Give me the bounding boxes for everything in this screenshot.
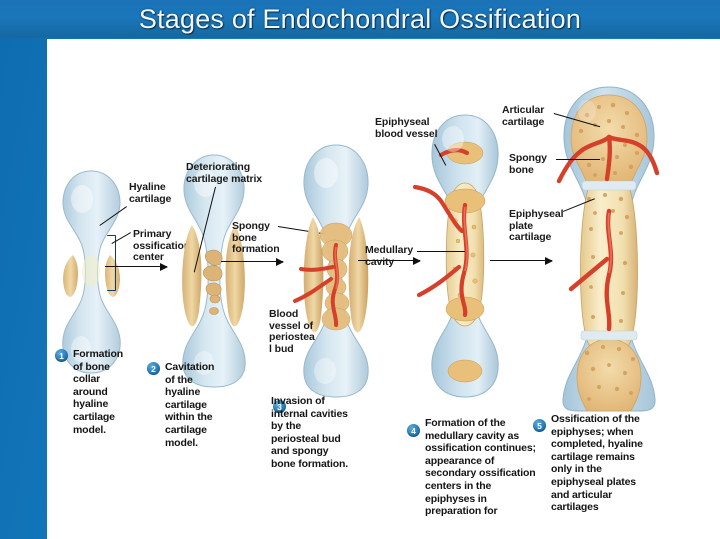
diagram-canvas: Hyaline cartilage Primary ossification c… [47, 39, 720, 539]
stage-1-bullet: 1 [55, 349, 68, 362]
label-spongy-bone-formation: Spongy bone formation [232, 221, 280, 256]
stage-2-caption: Cavitation of the hyaline cartilage with… [165, 361, 247, 449]
title-bar: Stages of Endochondral Ossification [0, 0, 720, 38]
label-blood-vessel-of-periosteal-bud: Blood vessel of periostea l bud [269, 309, 315, 355]
arrow-stage-1-to-2 [105, 266, 167, 267]
stage-5-bullet: 5 [533, 419, 546, 432]
stage-2-bullet: 2 [147, 362, 160, 375]
label-medullary-cavity: Medullary cavity [365, 245, 413, 268]
leader-medullary-cavity [417, 251, 465, 252]
stage-3-caption: Invasion of internal cavities by the per… [271, 395, 365, 471]
stage-5-figure [537, 81, 682, 411]
stage-5-caption: Ossification of the epiphyses; when comp… [551, 413, 663, 514]
leader-spongy-bone [556, 159, 600, 160]
stage-1-caption: Formation of bone collar around hyaline … [73, 348, 151, 436]
stage-4-bullet: 4 [407, 424, 420, 437]
label-epiphyseal-plate-cartilage: Epiphyseal plate cartilage [509, 209, 563, 244]
label-epiphyseal-blood-vessel: Epiphyseal blood vessel [375, 117, 437, 140]
arrow-stage-2-to-3 [221, 261, 283, 262]
label-deteriorating-cartilage-matrix: Deteriorating cartilage matrix [186, 162, 262, 185]
label-spongy-bone: Spongy bone [509, 153, 547, 176]
page-title: Stages of Endochondral Ossification [139, 4, 581, 35]
stage-4-caption: Formation of the medullary cavity as oss… [425, 417, 547, 518]
label-articular-cartilage: Articular cartilage [502, 105, 544, 128]
